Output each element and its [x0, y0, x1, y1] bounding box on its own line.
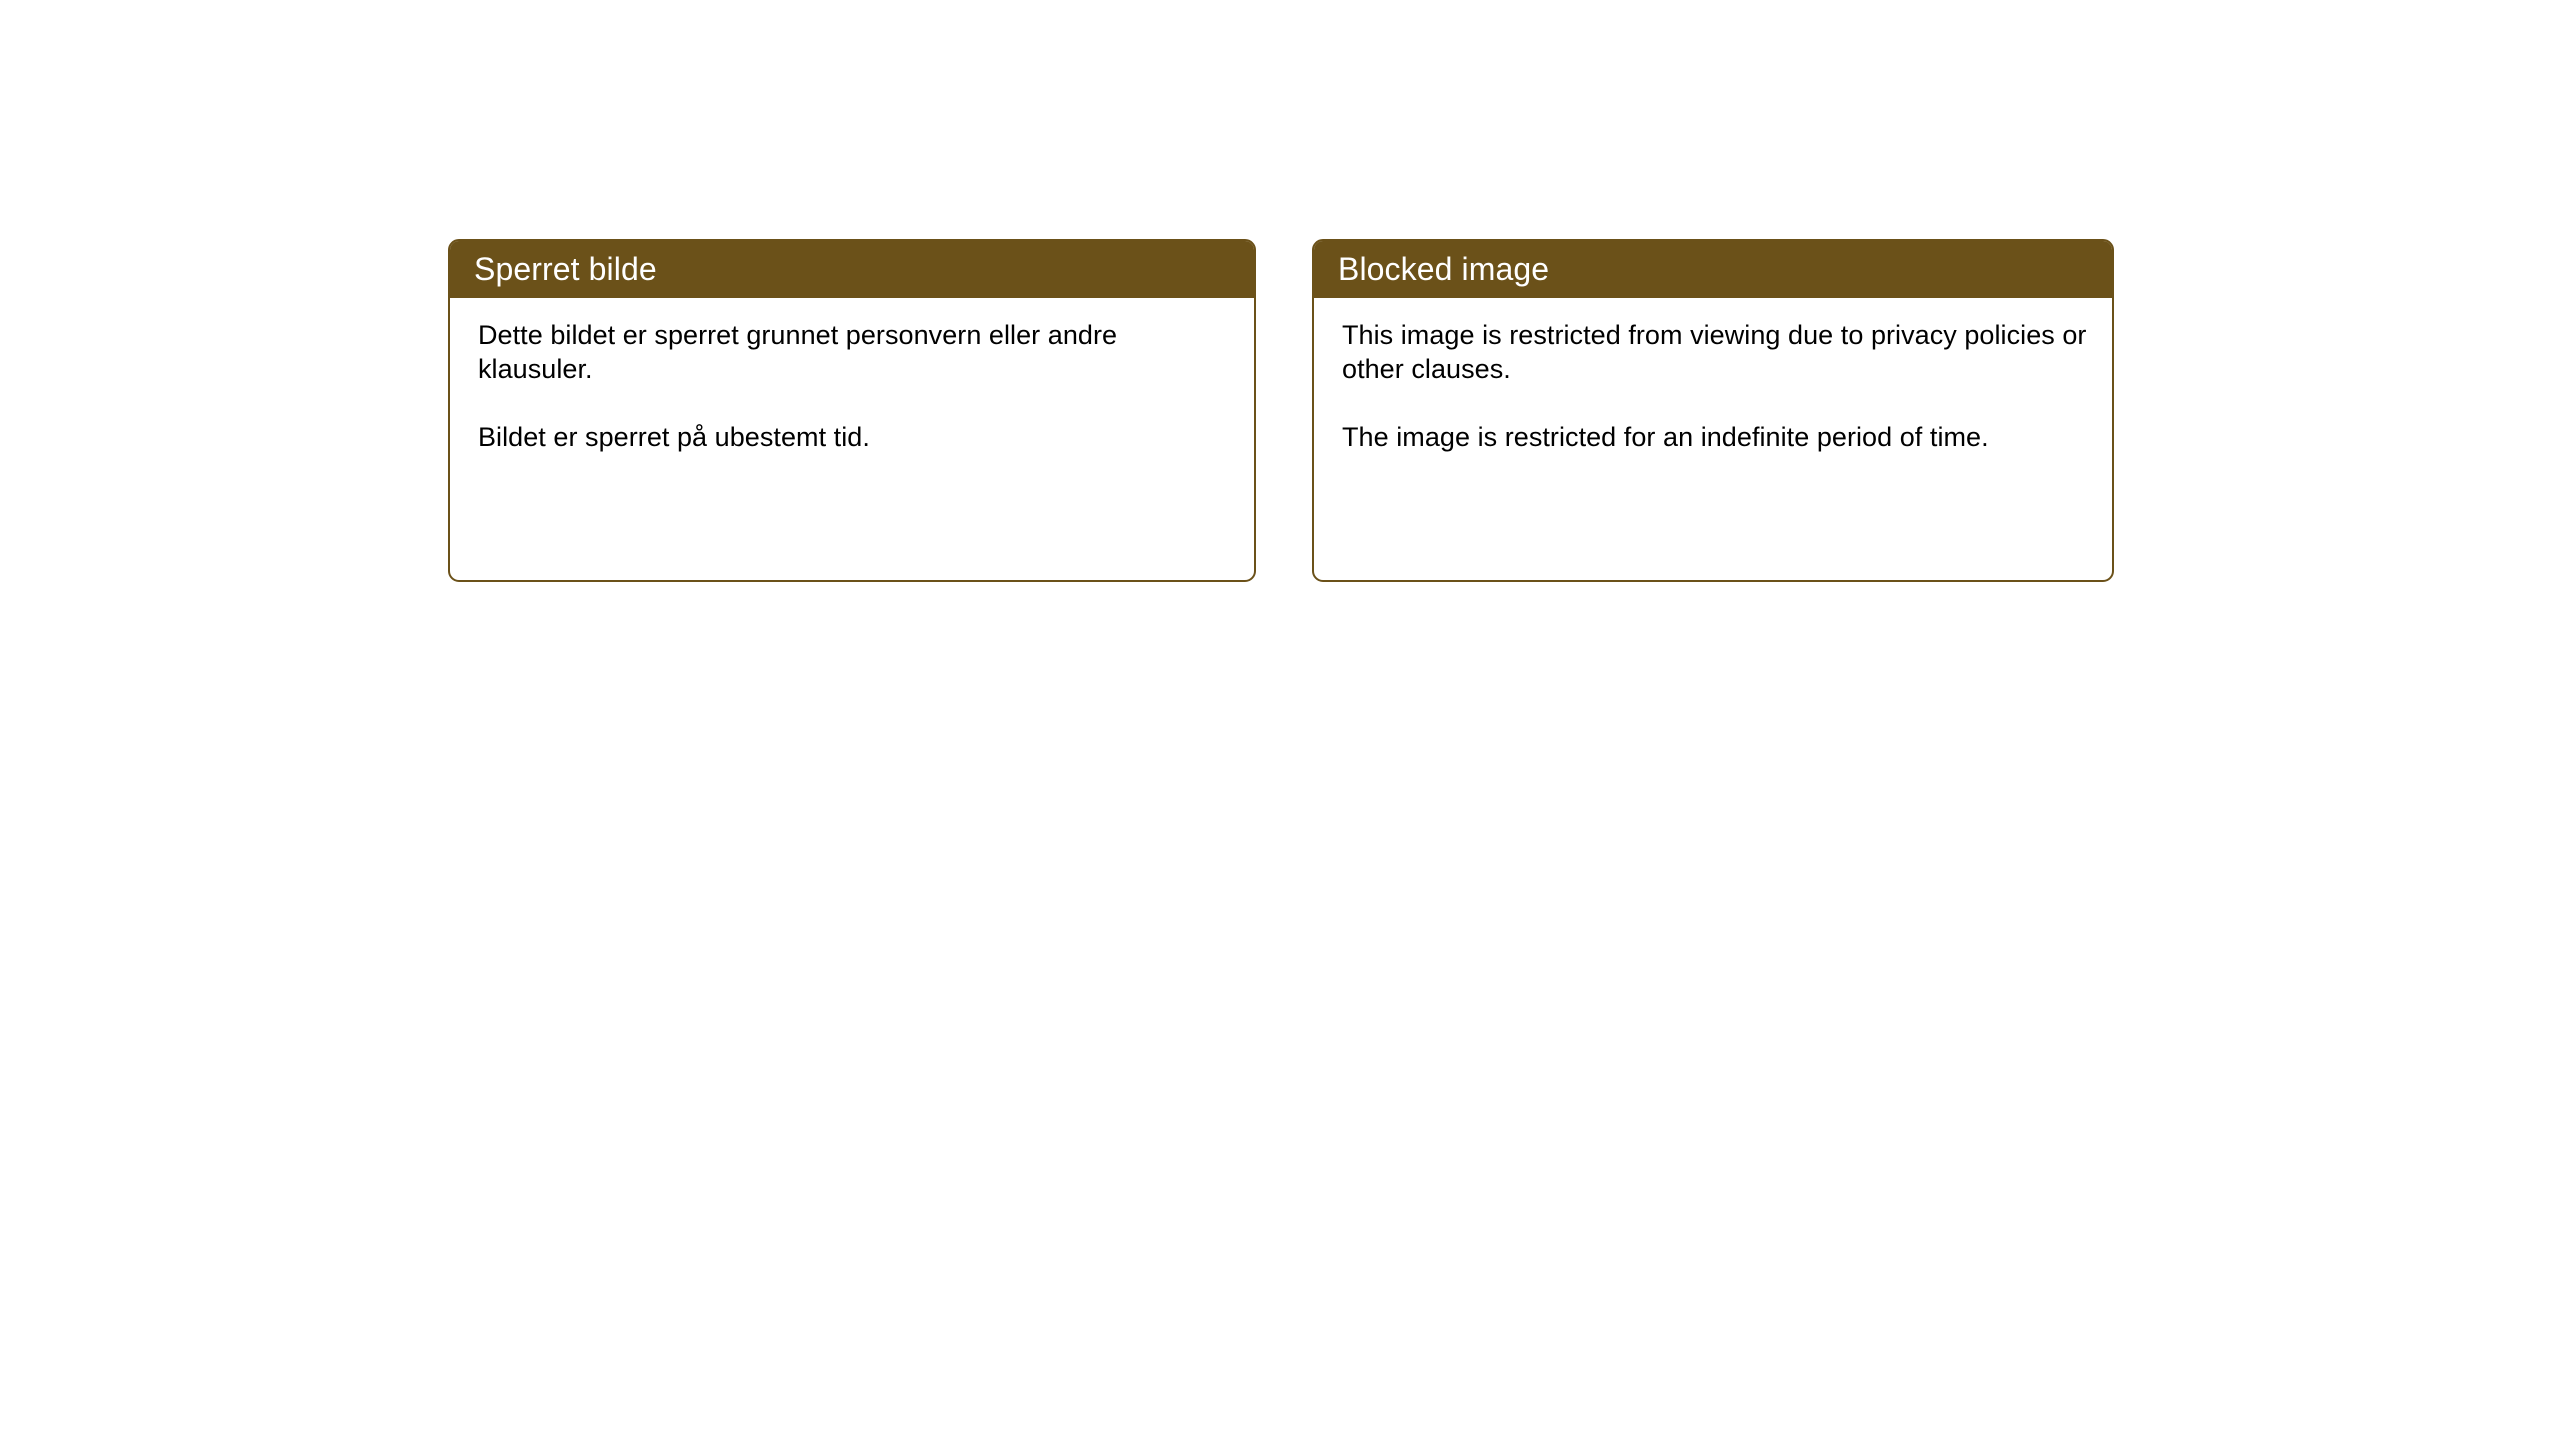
- notice-paragraph-secondary-english: The image is restricted for an indefinit…: [1342, 420, 2088, 454]
- notice-body-norwegian: Dette bildet er sperret grunnet personve…: [450, 298, 1254, 454]
- blocked-image-notice-norwegian: Sperret bilde Dette bildet er sperret gr…: [448, 239, 1256, 582]
- notice-title-english: Blocked image: [1338, 252, 1549, 286]
- notice-paragraph-primary-english: This image is restricted from viewing du…: [1342, 318, 2088, 386]
- page-root: Sperret bilde Dette bildet er sperret gr…: [0, 0, 2560, 1440]
- notice-paragraph-secondary-norwegian: Bildet er sperret på ubestemt tid.: [478, 420, 1230, 454]
- blocked-image-notice-english: Blocked image This image is restricted f…: [1312, 239, 2114, 582]
- notice-body-english: This image is restricted from viewing du…: [1314, 298, 2112, 454]
- notice-title-norwegian: Sperret bilde: [474, 252, 657, 286]
- notice-header-norwegian: Sperret bilde: [448, 239, 1256, 298]
- notice-header-english: Blocked image: [1312, 239, 2114, 298]
- notice-paragraph-primary-norwegian: Dette bildet er sperret grunnet personve…: [478, 318, 1230, 386]
